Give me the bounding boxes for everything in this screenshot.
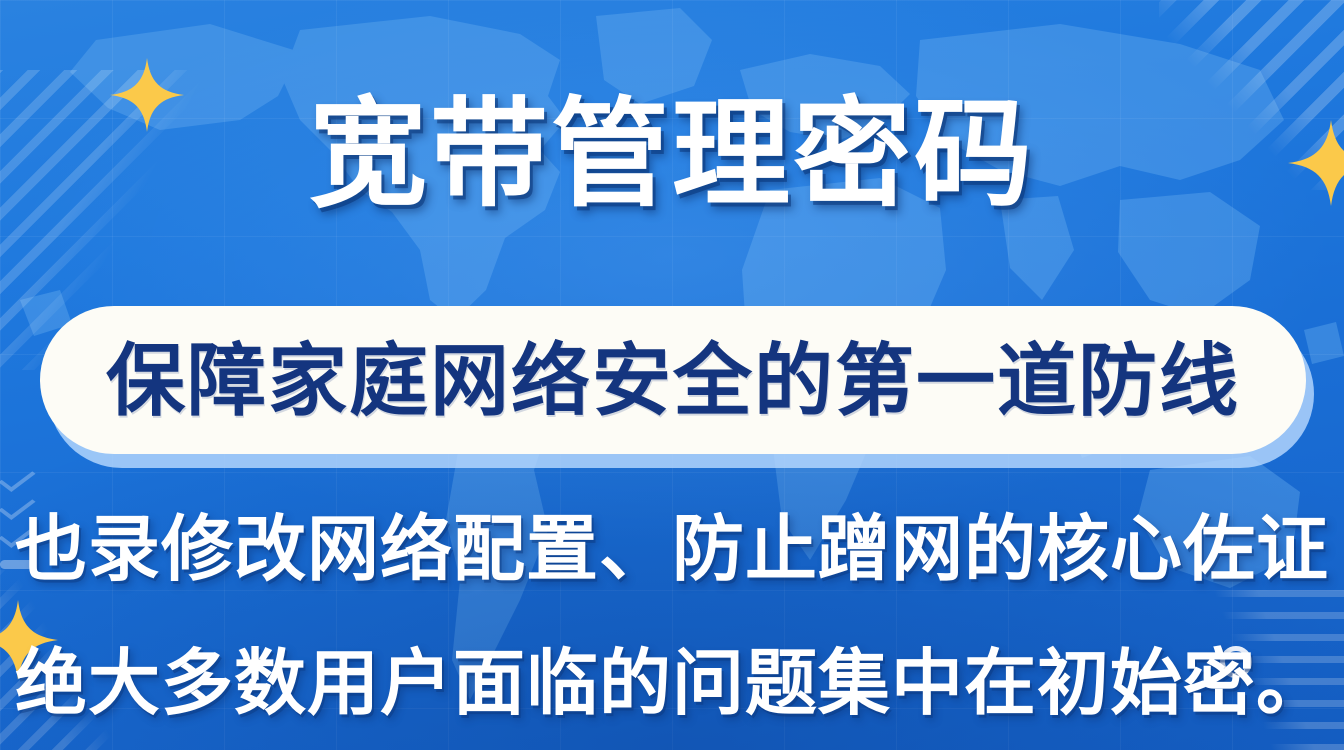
chevron-down-icon bbox=[0, 464, 36, 492]
subtitle-pill-text: 保障家庭网络安全的第一道防线 bbox=[106, 341, 1240, 420]
body-line-2: 绝大多数用户面临的问题集中在初始密。 bbox=[0, 648, 1344, 720]
subtitle-pill-container: 保障家庭网络安全的第一道防线 bbox=[40, 306, 1306, 454]
poster-title: 宽带管理密码 bbox=[0, 96, 1344, 214]
poster-canvas: 宽带管理密码 保障家庭网络安全的第一道防线 也录修改网络配置、防止蹭网的核心佐证… bbox=[0, 0, 1344, 750]
subtitle-pill: 保障家庭网络安全的第一道防线 bbox=[40, 306, 1306, 454]
body-line-1: 也录修改网络配置、防止蹭网的核心佐证 bbox=[0, 514, 1344, 586]
